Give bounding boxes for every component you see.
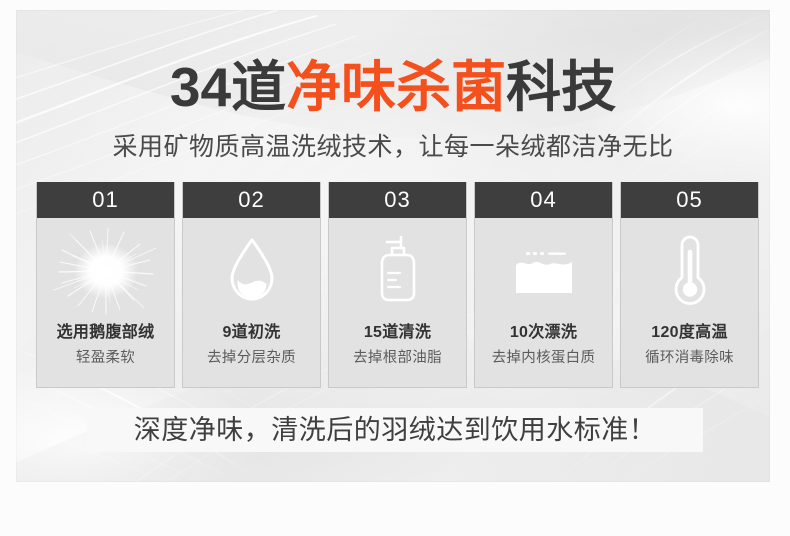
- card-body: 10次漂洗 去掉内核蛋白质: [475, 218, 612, 387]
- card-step-number: 04: [475, 182, 612, 218]
- page-title-suffix: 科技: [506, 56, 616, 118]
- card-subtitle: 循环消毒除味: [645, 349, 734, 367]
- card-title: 15道清洗: [364, 323, 431, 343]
- water-basin-icon: [475, 218, 612, 323]
- page-title: 34道净味杀菌科技: [16, 55, 770, 119]
- card-subtitle: 去掉分层杂质: [207, 349, 296, 367]
- process-card: 03: [328, 182, 467, 388]
- content-panel: 34道净味杀菌科技 采用矿物质高温洗绒技术，让每一朵绒都洁净无比 01: [16, 10, 770, 482]
- card-step-number: 03: [329, 182, 466, 218]
- card-subtitle: 去掉根部油脂: [353, 349, 442, 367]
- card-subtitle: 去掉内核蛋白质: [492, 349, 596, 367]
- process-card: 05 120度高温: [620, 182, 759, 388]
- card-body: 15道清洗 去掉根部油脂: [329, 218, 466, 387]
- process-card: 02 9道初洗 去掉分层杂质: [182, 182, 321, 388]
- card-title: 9道初洗: [222, 323, 280, 343]
- summary-banner: 深度净味，清洗后的羽绒达到饮用水标准！: [87, 408, 703, 452]
- card-title: 选用鹅腹部绒: [57, 323, 155, 343]
- card-subtitle: 轻盈柔软: [76, 349, 135, 367]
- card-step-number: 01: [37, 182, 174, 218]
- card-title: 10次漂洗: [510, 323, 577, 343]
- card-body: 选用鹅腹部绒 轻盈柔软: [37, 218, 174, 387]
- card-step-number: 05: [621, 182, 758, 218]
- process-card: 01: [36, 182, 175, 388]
- card-body: 120度高温 循环消毒除味: [621, 218, 758, 387]
- summary-banner-text: 深度净味，清洗后的羽绒达到饮用水标准！: [134, 412, 657, 448]
- page-title-highlight: 净味杀菌: [286, 56, 506, 118]
- process-card-row: 01: [36, 182, 750, 388]
- water-drop-icon: [183, 218, 320, 323]
- promo-page: 34道净味杀菌科技 采用矿物质高温洗绒技术，让每一朵绒都洁净无比 01: [0, 0, 790, 536]
- card-step-number: 02: [183, 182, 320, 218]
- card-body: 9道初洗 去掉分层杂质: [183, 218, 320, 387]
- page-subtitle: 采用矿物质高温洗绒技术，让每一朵绒都洁净无比: [16, 130, 770, 164]
- card-title: 120度高温: [651, 323, 728, 343]
- process-card: 04: [474, 182, 613, 388]
- pump-bottle-icon: [329, 218, 466, 323]
- thermometer-icon: [621, 218, 758, 323]
- down-feather-icon: [37, 218, 174, 323]
- page-title-prefix: 34道: [170, 56, 286, 118]
